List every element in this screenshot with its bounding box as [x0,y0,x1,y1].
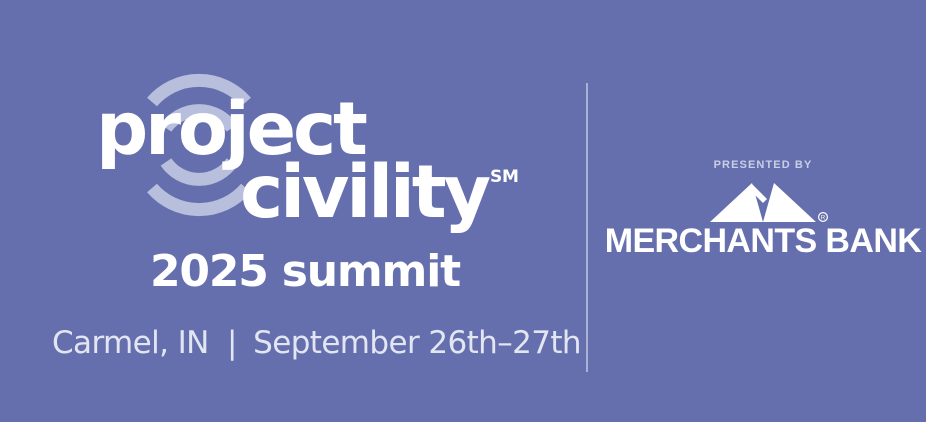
event-meta: Carmel, IN | September 26th–27th [52,328,581,359]
wordmark-line-civility: civility [240,156,488,229]
event-dates: September 26th–27th [253,325,581,361]
sponsor-panel: PRESENTED BY R MERCHANTS BANK [600,0,926,422]
project-civility-wordmark: project civility SM [96,93,566,238]
merchants-bank-mountain-mark-icon: R [600,182,926,224]
service-mark-label: SM [490,169,519,186]
summit-title: 2025 summit [150,250,460,294]
event-info-panel: project civility SM 2025 summit Carmel, … [0,0,586,422]
event-location: Carmel, IN [52,325,209,361]
registered-symbol-glyph: R [821,216,826,222]
vertical-divider [586,83,588,372]
meta-separator: | [218,325,244,361]
presented-by-label: PRESENTED BY [600,160,926,171]
sponsor-name: MERCHANTS BANK [600,224,926,258]
event-banner: project civility SM 2025 summit Carmel, … [0,0,926,422]
